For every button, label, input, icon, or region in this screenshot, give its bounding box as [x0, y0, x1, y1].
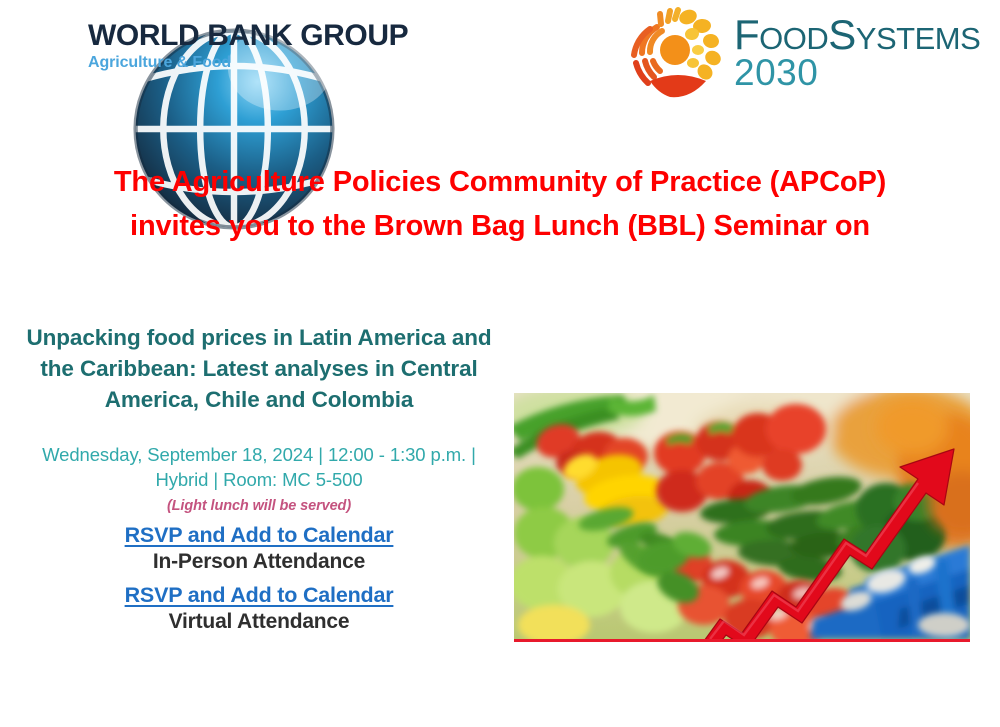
fs-name-s: S — [828, 11, 856, 58]
event-details-column: Unpacking food prices in Latin America a… — [14, 322, 504, 634]
attendance-mode-virtual: Virtual Attendance — [14, 610, 504, 634]
attendance-mode-in-person: In-Person Attendance — [14, 550, 504, 574]
foodsystems-name: FOODSYSTEMS — [734, 14, 980, 55]
headline-line-1: The Agriculture Policies Community of Pr… — [0, 160, 1000, 204]
session-logistics: Wednesday, September 18, 2024 | 12:00 - … — [14, 443, 504, 492]
rsvp-link-in-person[interactable]: RSVP and Add to Calendar — [14, 523, 504, 548]
world-bank-wordmark: WORLD BANK GROUP Agriculture & Food — [88, 21, 408, 71]
world-bank-subtitle: Agriculture & Food — [88, 55, 408, 71]
fs-name-ood: OOD — [759, 21, 828, 56]
fs-name-ystems: YSTEMS — [856, 21, 980, 56]
world-bank-globe-icon — [6, 6, 80, 86]
header-logo-bar: WORLD BANK GROUP Agriculture & Food — [0, 0, 1000, 112]
foodsystems-wordmark: FOODSYSTEMS 2030 — [734, 14, 980, 91]
invitation-headline: The Agriculture Policies Community of Pr… — [0, 160, 1000, 248]
foodsystems-sunburst-icon — [628, 5, 728, 101]
lunch-note: (Light lunch will be served) — [14, 498, 504, 514]
world-bank-title: WORLD BANK GROUP — [88, 21, 408, 51]
headline-line-2: invites you to the Brown Bag Lunch (BBL)… — [0, 204, 1000, 248]
foodsystems-2030-logo: FOODSYSTEMS 2030 — [628, 5, 980, 101]
market-vegetables-photo — [514, 393, 970, 642]
foodsystems-year: 2030 — [734, 55, 980, 91]
rsvp-link-virtual[interactable]: RSVP and Add to Calendar — [14, 583, 504, 608]
session-title: Unpacking food prices in Latin America a… — [14, 322, 504, 415]
world-bank-group-logo: WORLD BANK GROUP Agriculture & Food — [6, 6, 408, 86]
fs-name-f: F — [734, 11, 759, 58]
